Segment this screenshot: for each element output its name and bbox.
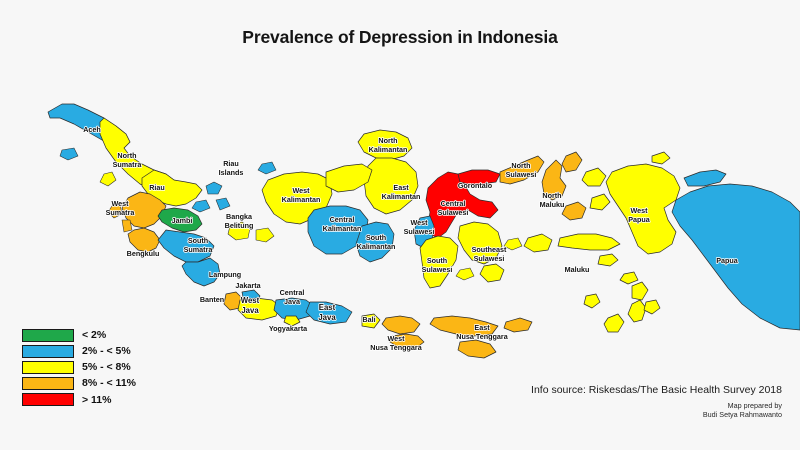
region-maluku-small[interactable] <box>598 254 618 266</box>
label-aceh: Aceh <box>83 125 101 134</box>
region-west-nusa-tenggara[interactable] <box>382 316 420 334</box>
region-east-nusa-tenggara-3[interactable] <box>504 318 532 332</box>
label-riau-islands-2: Islands <box>219 168 244 177</box>
legend-label-medium: 5% - < 8% <box>82 362 131 373</box>
source-attribution-block: Info source: Riskesdas/The Basic Health … <box>531 384 782 419</box>
label-north-sulawesi-1: North <box>511 161 530 170</box>
info-source-line: Info source: Riskesdas/The Basic Health … <box>531 384 782 396</box>
label-central-kalimantan-1: Central <box>330 215 355 224</box>
credit-line-prepared-by: Map prepared by <box>531 401 782 410</box>
label-south-sulawesi-2: Sulawesi <box>422 265 453 274</box>
label-southeast-sulawesi-2: Sulawesi <box>474 254 505 263</box>
label-west-java-2: Java <box>241 306 259 315</box>
label-south-sumatra-1: South <box>188 236 208 245</box>
label-east-kalimantan-2: Kalimantan <box>382 192 421 201</box>
label-central-sulawesi-2: Sulawesi <box>438 208 469 217</box>
island-belitung[interactable] <box>256 228 274 242</box>
label-central-sulawesi-1: Central <box>441 199 466 208</box>
island-nias[interactable] <box>100 172 116 186</box>
label-papua: Papua <box>716 256 739 265</box>
region-north-maluku-3[interactable] <box>562 202 586 220</box>
label-east-nusa-tenggara-1: East <box>474 323 490 332</box>
region-group-sumatra <box>48 104 274 286</box>
label-jambi: Jambi <box>172 216 193 225</box>
region-maluku-tanimbar[interactable] <box>604 314 624 332</box>
legend-label-high: 8% - < 11% <box>82 378 136 389</box>
label-north-sumatra-2: Sumatra <box>113 160 143 169</box>
legend-swatch-very-low <box>22 329 74 342</box>
legend-item[interactable]: 8% - < 11% <box>22 376 136 392</box>
label-south-sulawesi-1: South <box>427 256 447 265</box>
map-credit-block: Map prepared by Budi Setya Rahmawanto <box>531 401 782 419</box>
legend-item[interactable]: < 2% <box>22 327 136 343</box>
region-maluku-seram[interactable] <box>558 234 620 250</box>
region-east-kalimantan[interactable] <box>364 158 418 214</box>
island-riau-islands-3[interactable] <box>216 198 230 210</box>
legend-swatch-medium <box>22 361 74 374</box>
region-maluku-aru[interactable] <box>628 300 646 322</box>
credit-line-author: Budi Setya Rahmawanto <box>531 410 782 419</box>
legend-item[interactable]: 5% - < 8% <box>22 359 136 375</box>
label-banten: Banten <box>200 295 224 304</box>
label-west-kalimantan-2: Kalimantan <box>282 195 321 204</box>
region-papua-isle[interactable] <box>632 282 648 300</box>
region-west-papua-isle-2[interactable] <box>590 194 610 210</box>
label-central-java-1: Central <box>280 288 305 297</box>
legend-swatch-low <box>22 345 74 358</box>
label-bangka-belitung-1: Bangka <box>226 212 253 221</box>
label-west-papua-1: West <box>630 206 648 215</box>
region-maluku-kei[interactable] <box>584 294 600 308</box>
region-north-maluku-2[interactable] <box>562 152 582 172</box>
label-lampung: Lampung <box>209 270 241 279</box>
label-west-sumatra-2: Sumatra <box>106 208 136 217</box>
map-title: Prevalence of Depression in Indonesia <box>0 27 800 48</box>
label-west-papua-2: Papua <box>628 215 651 224</box>
label-east-kalimantan-1: East <box>393 183 409 192</box>
island-riau-islands-2[interactable] <box>192 200 210 212</box>
legend-swatch-high <box>22 377 74 390</box>
island-mentawai-2[interactable] <box>122 220 132 232</box>
region-west-papua-isle-3[interactable] <box>652 152 670 164</box>
label-north-maluku-1: North <box>542 191 561 200</box>
legend-swatch-very-high <box>22 393 74 406</box>
label-maluku: Maluku <box>565 265 590 274</box>
legend-label-very-low: < 2% <box>82 330 106 341</box>
label-north-sumatra-1: North <box>117 151 136 160</box>
label-bangka-belitung-2: Belitung <box>225 221 254 230</box>
label-east-nusa-tenggara-2: Nusa Tenggara <box>456 332 508 341</box>
depression-prevalence-map-figure: Prevalence of Depression in Indonesia <box>0 0 800 450</box>
island-sulawesi-small-2[interactable] <box>456 268 474 280</box>
label-west-nusa-tenggara-1: West <box>387 334 405 343</box>
label-east-java-2: Java <box>318 313 336 322</box>
label-south-sumatra-2: Sumatra <box>184 245 214 254</box>
label-riau: Riau <box>149 183 165 192</box>
label-west-sumatra-1: West <box>111 199 129 208</box>
label-bengkulu: Bengkulu <box>127 249 160 258</box>
island-kalimantan-isle[interactable] <box>258 162 276 174</box>
label-jakarta: Jakarta <box>235 281 261 290</box>
region-west-papua-isle[interactable] <box>582 168 606 186</box>
label-west-sulawesi-2: Sulawesi <box>404 227 435 236</box>
region-papua-bay[interactable] <box>684 170 726 186</box>
legend-label-low: 2% - < 5% <box>82 346 131 357</box>
label-south-kalimantan-2: Kalimantan <box>357 242 396 251</box>
label-central-kalimantan-2: Kalimantan <box>323 224 362 233</box>
island-simeulue[interactable] <box>60 148 78 160</box>
label-west-nusa-tenggara-2: Nusa Tenggara <box>370 343 422 352</box>
label-north-kalimantan-1: North <box>378 136 397 145</box>
label-west-sulawesi-1: West <box>410 218 428 227</box>
label-yogyakarta: Yogyakarta <box>269 324 308 333</box>
label-riau-islands-1: Riau <box>223 159 239 168</box>
label-north-maluku-2: Maluku <box>540 200 565 209</box>
region-southeast-sulawesi-2[interactable] <box>480 264 504 282</box>
region-papua-isle-2[interactable] <box>644 300 660 314</box>
legend-item[interactable]: > 11% <box>22 392 136 408</box>
label-central-java-2: Java <box>284 297 301 306</box>
map-legend: < 2% 2% - < 5% 5% - < 8% 8% - < 11% > 11… <box>22 327 136 408</box>
label-gorontalo: Gorontalo <box>458 181 493 190</box>
label-north-kalimantan-2: Kalimantan <box>369 145 408 154</box>
label-east-java-1: East <box>319 303 336 312</box>
region-maluku-small-2[interactable] <box>620 272 638 284</box>
label-bali: Bali <box>362 315 375 324</box>
label-west-kalimantan-1: West <box>292 186 310 195</box>
island-riau-islands[interactable] <box>206 182 222 194</box>
region-east-nusa-tenggara-2[interactable] <box>458 340 496 358</box>
label-south-kalimantan-1: South <box>366 233 386 242</box>
label-southeast-sulawesi-1: Southeast <box>472 245 507 254</box>
region-maluku-buru[interactable] <box>524 234 552 252</box>
label-north-sulawesi-2: Sulawesi <box>506 170 537 179</box>
label-west-java-1: West <box>241 296 260 305</box>
island-sulawesi-small[interactable] <box>504 238 522 250</box>
legend-label-very-high: > 11% <box>82 395 112 406</box>
legend-item[interactable]: 2% - < 5% <box>22 343 136 359</box>
